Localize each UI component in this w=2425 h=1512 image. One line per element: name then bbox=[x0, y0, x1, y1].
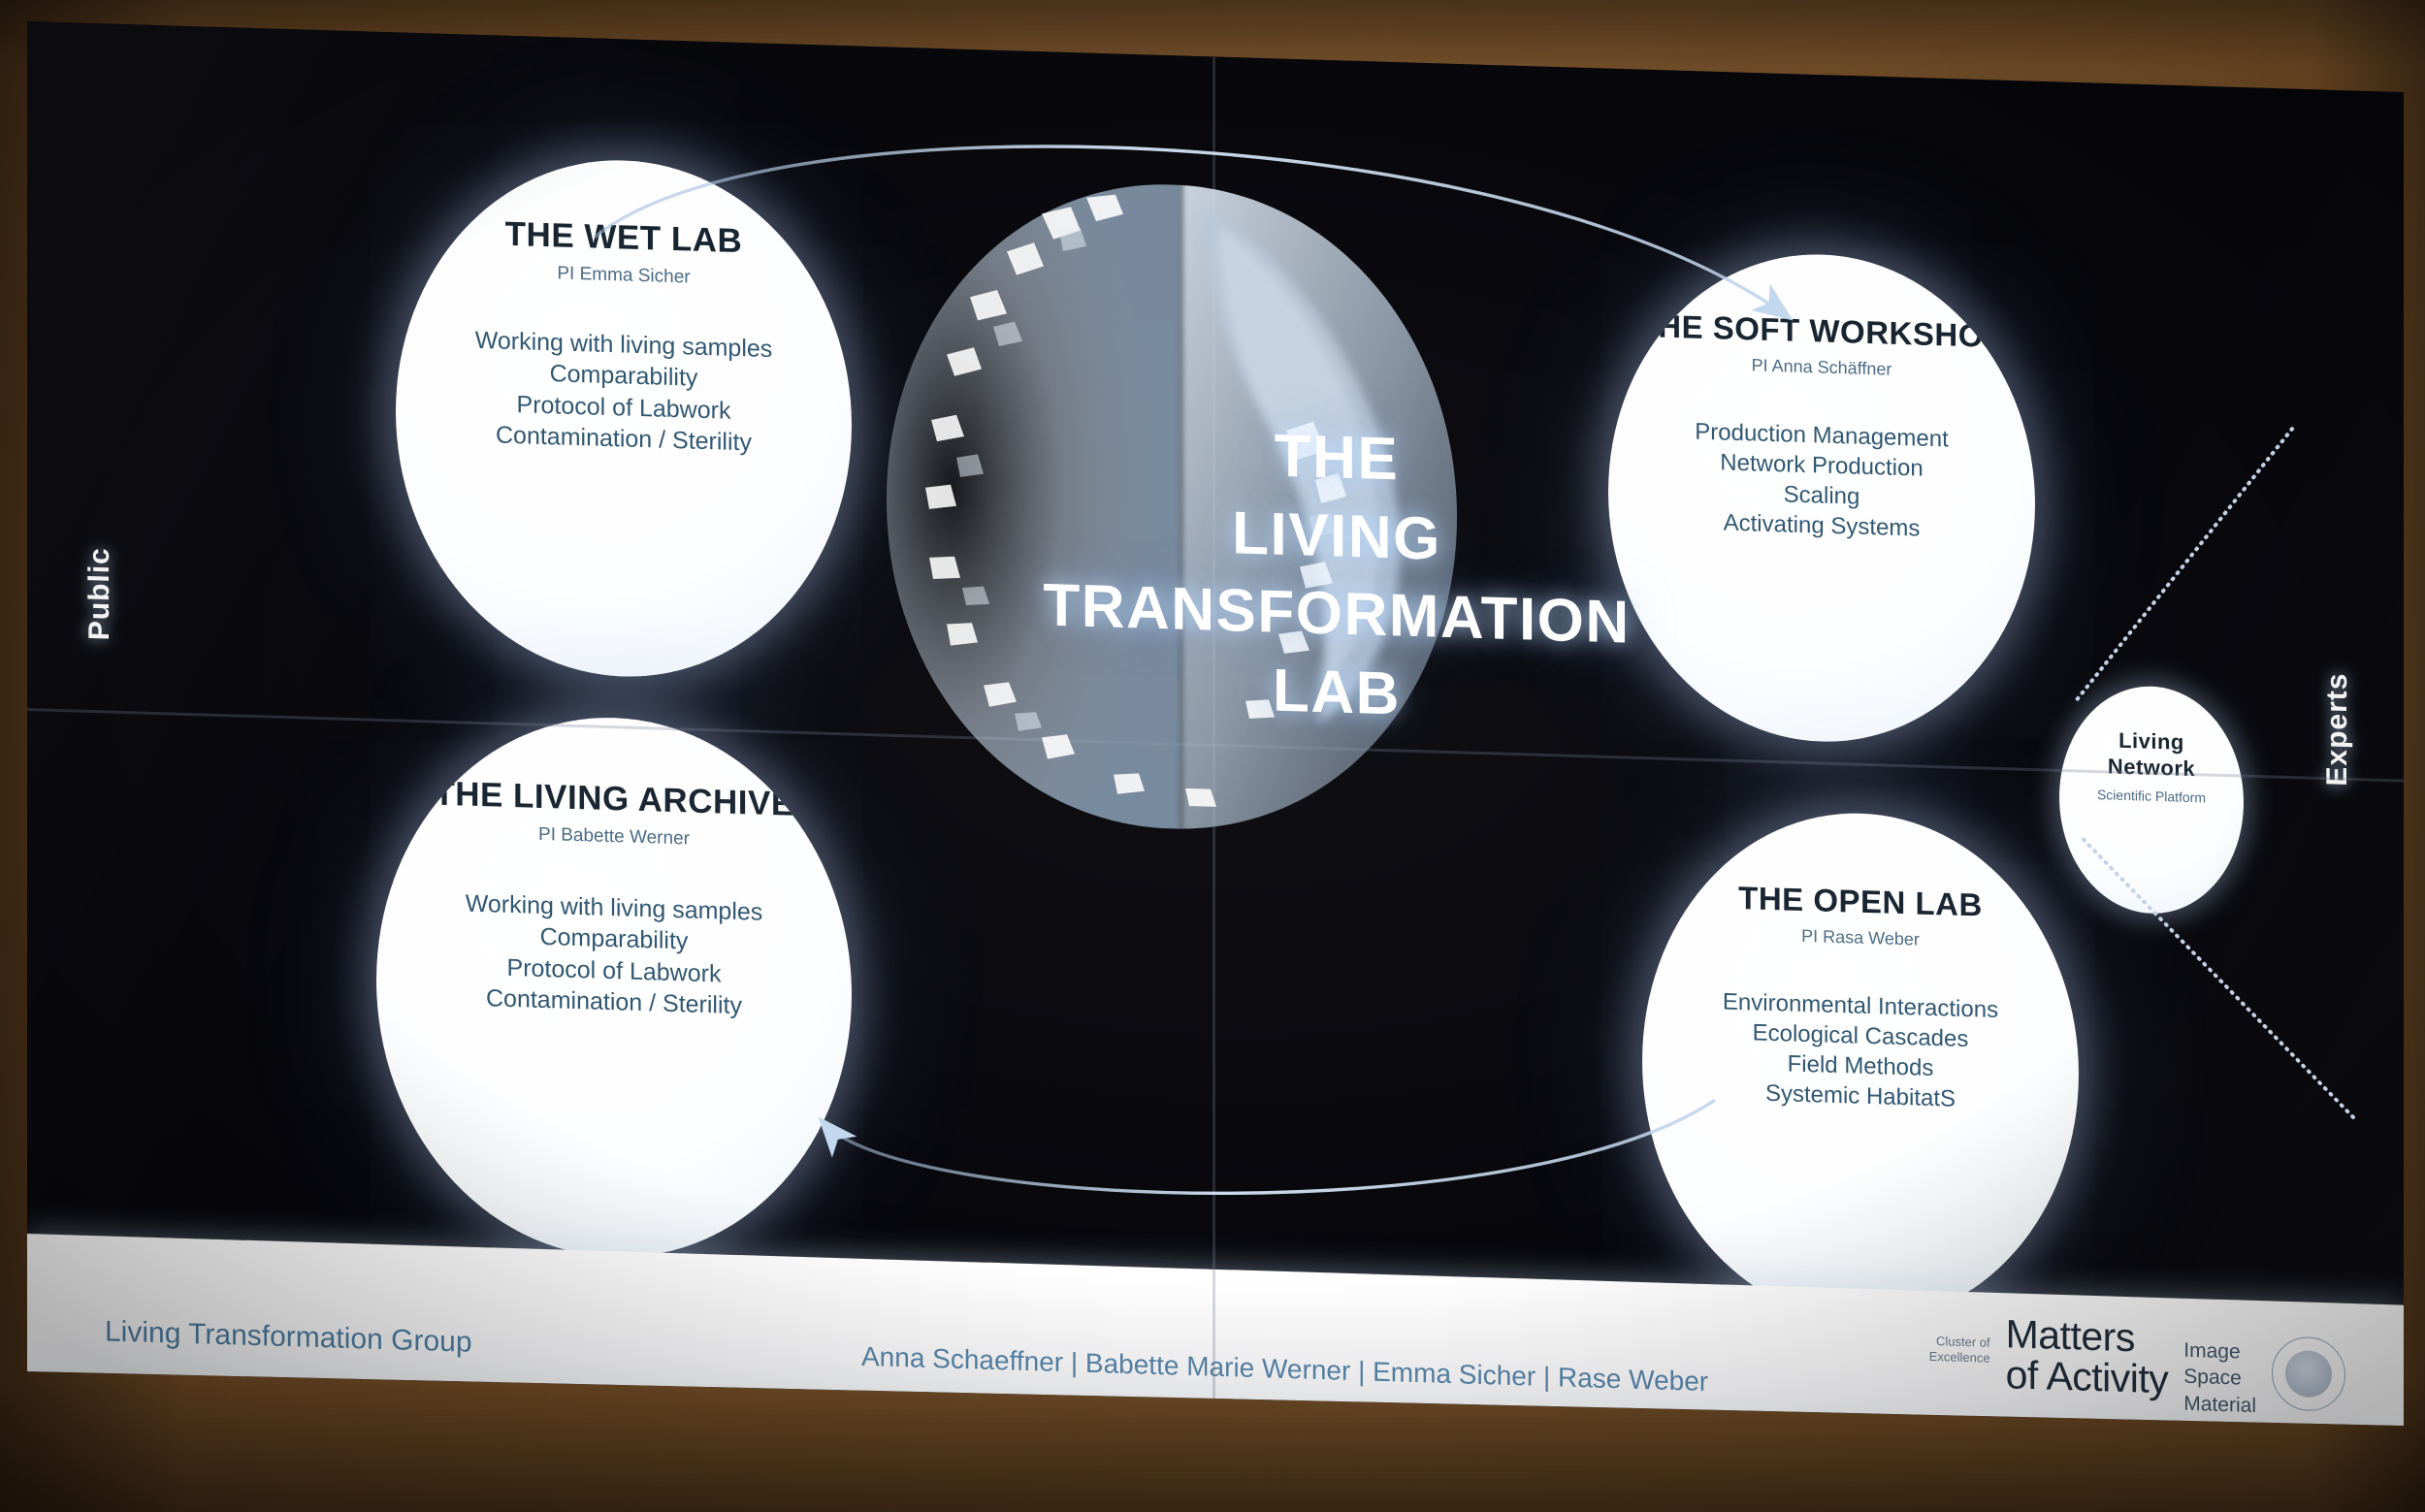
presentation-slide: THE LIVING TRANSFORMATION LAB THE WET LA… bbox=[27, 21, 2404, 1480]
video-wall-display[interactable]: THE LIVING TRANSFORMATION LAB THE WET LA… bbox=[0, 0, 2425, 1512]
flow-arrows bbox=[27, 21, 2404, 1480]
screen-surface: THE LIVING TRANSFORMATION LAB THE WET LA… bbox=[27, 21, 2404, 1480]
slide-center-title: THE LIVING TRANSFORMATION LAB bbox=[978, 408, 1696, 743]
